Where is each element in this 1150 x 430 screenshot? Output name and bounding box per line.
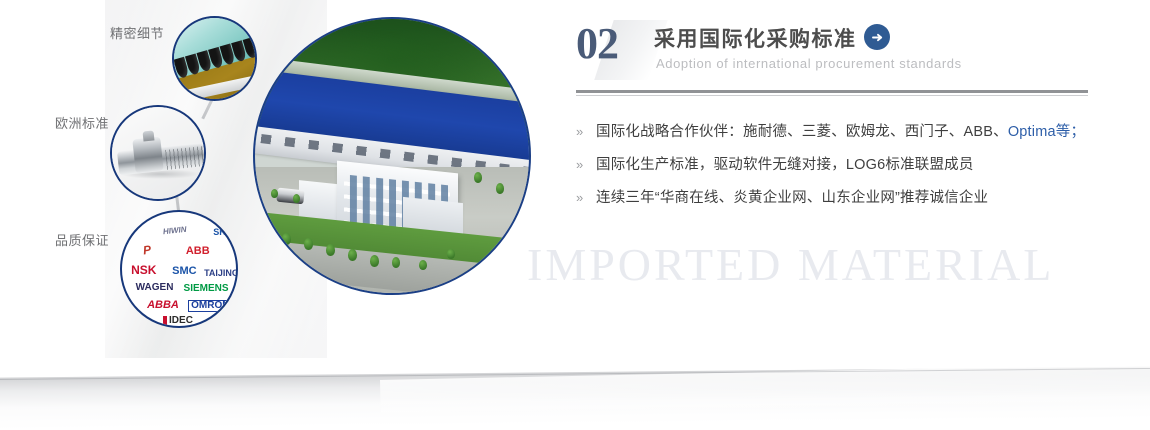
tree	[447, 249, 455, 259]
bullet-accent-text: Optima等；	[1008, 124, 1085, 140]
gear-closeup-circle	[172, 16, 257, 101]
tree	[370, 255, 379, 267]
bullet-text: 国际化生产标准，驱动软件无缝对接，LOG6标准联盟成员	[596, 153, 974, 174]
sweep-highlight	[380, 362, 1150, 426]
bullet-marker-icon: »	[576, 124, 596, 139]
tree	[282, 233, 291, 245]
logo-cluster: HIWINSKFPABBNSKSMCTAIJINGWAGENSIEMENSABB…	[122, 212, 236, 326]
arrow-right-icon[interactable]	[864, 24, 890, 50]
brand-logo-siemens: SIEMENS	[184, 284, 229, 294]
bullet-marker-icon: »	[576, 190, 596, 205]
brand-logo-wagen: WAGEN	[136, 283, 174, 293]
brand-logo-taijing: TAIJING	[204, 269, 238, 278]
bullet-marker-icon: »	[576, 157, 596, 172]
section-header: 02 采用国际化采购标准 Adoption of international p…	[576, 22, 1088, 84]
bullet-list: »国际化战略合作伙伴：施耐德、三菱、欧姆龙、西门子、ABB、Optima等；»国…	[576, 120, 1088, 219]
tree	[392, 257, 400, 268]
section-title-zh: 采用国际化采购标准	[654, 23, 857, 53]
divider-thick-line	[576, 90, 1088, 93]
sweep-hairline	[0, 368, 1150, 380]
brand-logo-smc: SMC	[172, 266, 196, 277]
screw-nut-block	[132, 137, 163, 174]
brand-logo-panasonic: P	[142, 243, 152, 256]
bottom-decorative-sweep	[0, 362, 1150, 430]
bullet-text: 国际化战略合作伙伴：施耐德、三菱、欧姆龙、西门子、ABB、Optima等；	[596, 120, 1085, 141]
ball-screw-circle	[110, 105, 206, 201]
brand-logo-nsk: NSK	[131, 264, 156, 276]
bullet-item: »连续三年“华商在线、炎黄企业网、山东企业网”推荐诚信企业	[576, 186, 1088, 207]
section-number: 02	[576, 18, 618, 69]
tree	[348, 249, 357, 261]
label-precision-detail: 精密细节	[110, 23, 164, 42]
bullet-item: »国际化生产标准，驱动软件无缝对接，LOG6标准联盟成员	[576, 153, 1088, 174]
tree	[326, 244, 335, 256]
screw-threads	[165, 146, 205, 170]
promo-banner: 精密细节 欧洲标准 品质保证 HIWINSKFPABBNSKSMCTAIJING…	[0, 0, 1150, 430]
brand-logo-idec: IDEC	[163, 316, 193, 326]
sweep-band	[0, 366, 1150, 430]
brand-logo-skf: SKF	[213, 228, 231, 237]
brand-logo-abba: ABBA	[147, 300, 179, 311]
bullet-item: »国际化战略合作伙伴：施耐德、三菱、欧姆龙、西门子、ABB、Optima等；	[576, 120, 1088, 141]
factory-photo-circle	[253, 17, 531, 295]
label-european-standard: 欧洲标准	[55, 113, 109, 132]
label-quality-assurance: 品质保证	[55, 230, 109, 249]
parked-car	[276, 187, 305, 203]
section-number-group: 02	[576, 22, 662, 78]
brand-logo-omron: OMRON	[188, 300, 232, 312]
brand-logo-abb: ABB	[186, 246, 210, 257]
bullet-text: 连续三年“华商在线、炎黄企业网、山东企业网”推荐诚信企业	[596, 186, 988, 207]
screw-port	[143, 130, 155, 141]
section-title-en: Adoption of international procurement st…	[656, 56, 962, 71]
header-divider	[576, 90, 1088, 96]
watermark-text: IMPORTED MATERIAL	[527, 238, 1054, 291]
content-column: 02 采用国际化采购标准 Adoption of international p…	[576, 22, 1088, 84]
partner-logos-circle: HIWINSKFPABBNSKSMCTAIJINGWAGENSIEMENSABB…	[120, 210, 238, 328]
brand-logo-hiwin: HIWIN	[163, 226, 187, 236]
divider-thin-line	[576, 95, 1088, 96]
